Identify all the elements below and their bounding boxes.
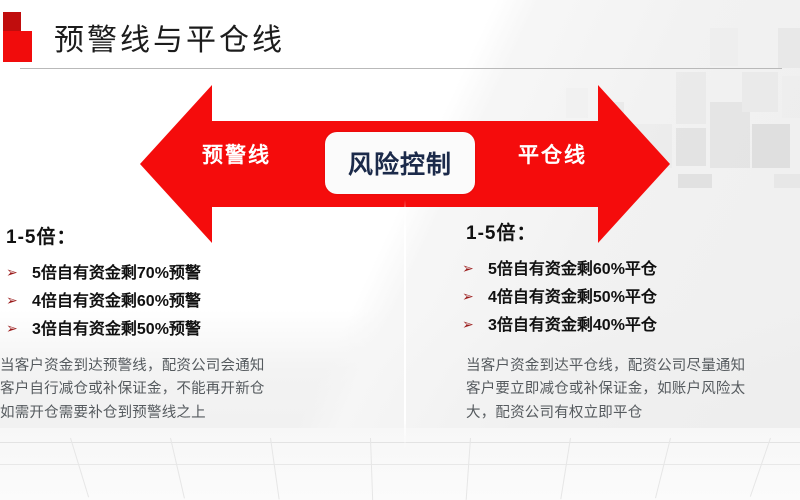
warning-line-description: 当客户资金到达预警线，配资公司会通知 客户自行减仓或补保证金，不能再开新仓 如需… [0, 355, 330, 425]
chevron-right-bullet-icon: ➢ [462, 261, 488, 275]
left-column-bullet-list: ➢ 5倍自有资金剩70%预警 ➢ 4倍自有资金剩60%预警 ➢ 3倍自有资金剩5… [6, 259, 398, 339]
header-accent-bright-block [3, 31, 32, 62]
chevron-right-bullet-icon: ➢ [6, 293, 32, 307]
chevron-right-bullet-icon: ➢ [6, 265, 32, 279]
warning-line-column: 1-5倍： ➢ 5倍自有资金剩70%预警 ➢ 4倍自有资金剩60%预警 ➢ 3倍… [6, 222, 398, 343]
list-item: ➢ 3倍自有资金剩50%预警 [6, 315, 398, 339]
header-divider-rule [20, 68, 782, 69]
list-item: ➢ 3倍自有资金剩40%平仓 [462, 311, 798, 335]
list-item-label: 4倍自有资金剩50%平仓 [488, 283, 657, 307]
liquidation-line-description: 当客户资金到达平仓线，配资公司尽量通知 客户要立即减仓或补保证金，如账户风险太 … [466, 355, 791, 425]
description-line: 客户要立即减仓或补保证金，如账户风险太 [466, 378, 791, 401]
description-line: 当客户资金到达预警线，配资公司会通知 [0, 355, 330, 378]
list-item-label: 4倍自有资金剩60%预警 [32, 287, 201, 311]
risk-control-label: 风险控制 [348, 145, 452, 181]
description-line: 大，配资公司有权立即平仓 [466, 402, 791, 425]
liquidation-line-arrow-label: 平仓线 [518, 139, 587, 169]
page-title: 预警线与平仓线 [54, 15, 285, 59]
list-item: ➢ 5倍自有资金剩70%预警 [6, 259, 398, 283]
list-item: ➢ 5倍自有资金剩60%平仓 [462, 255, 798, 279]
risk-control-center-box: 风险控制 [325, 132, 475, 194]
column-divider [404, 200, 406, 450]
chevron-right-bullet-icon: ➢ [462, 317, 488, 331]
liquidation-line-column: 1-5倍： ➢ 5倍自有资金剩60%平仓 ➢ 4倍自有资金剩50%平仓 ➢ 3倍… [462, 218, 798, 339]
list-item-label: 3倍自有资金剩40%平仓 [488, 311, 657, 335]
chevron-right-bullet-icon: ➢ [6, 321, 32, 335]
description-line: 客户自行减仓或补保证金，不能再开新仓 [0, 378, 330, 401]
warning-line-arrow-label: 预警线 [202, 139, 271, 169]
background-floor-grid [0, 428, 800, 500]
list-item-label: 5倍自有资金剩70%预警 [32, 259, 201, 283]
chevron-right-bullet-icon: ➢ [462, 289, 488, 303]
list-item: ➢ 4倍自有资金剩50%平仓 [462, 283, 798, 307]
slide-canvas: 预警线与平仓线 预警线 平仓线 风险控制 1-5倍： ➢ 5倍自有资金剩70%预… [0, 0, 800, 500]
list-item-label: 3倍自有资金剩50%预警 [32, 315, 201, 339]
list-item-label: 5倍自有资金剩60%平仓 [488, 255, 657, 279]
list-item: ➢ 4倍自有资金剩60%预警 [6, 287, 398, 311]
description-line: 当客户资金到达平仓线，配资公司尽量通知 [466, 355, 791, 378]
right-column-heading: 1-5倍： [466, 218, 798, 245]
left-column-heading: 1-5倍： [6, 222, 398, 249]
description-line: 如需开仓需要补仓到预警线之上 [0, 402, 330, 425]
right-column-bullet-list: ➢ 5倍自有资金剩60%平仓 ➢ 4倍自有资金剩50%平仓 ➢ 3倍自有资金剩4… [462, 255, 798, 335]
